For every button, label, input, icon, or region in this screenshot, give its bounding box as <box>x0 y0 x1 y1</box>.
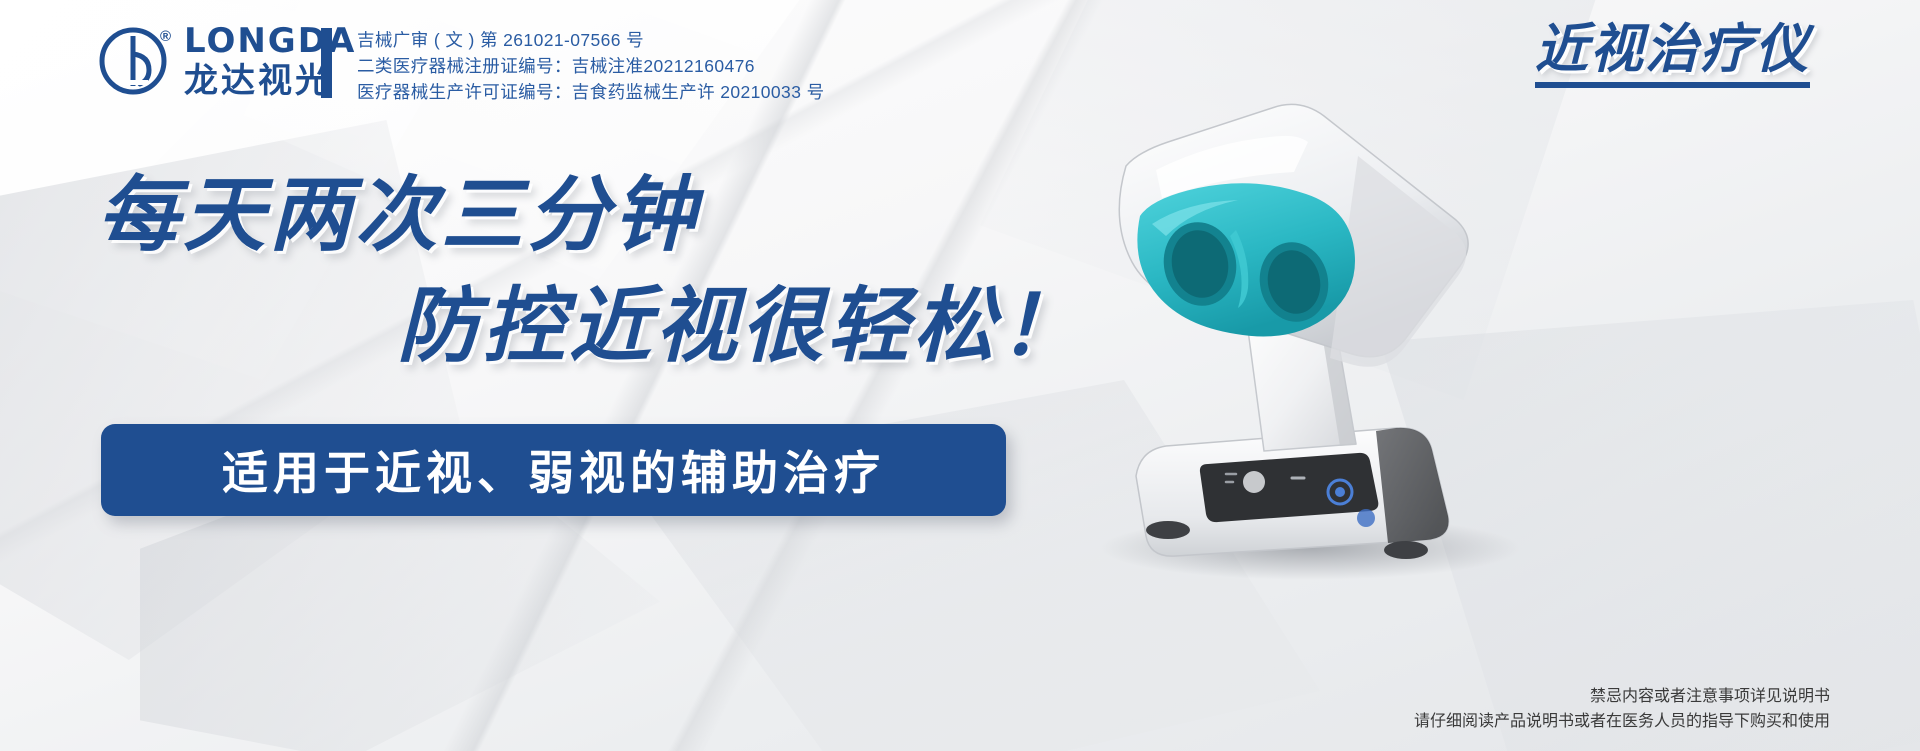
headline-block: 每天两次三分钟 防控近视很轻松！ <box>97 168 1085 376</box>
registered-trademark-symbol: ® <box>160 28 171 45</box>
product-title-text: 近视治疗仪 <box>1535 22 1810 78</box>
regulatory-line-device-registration: 二类医疗器械注册证编号：吉械注准20212160476 <box>357 54 824 80</box>
circle-monogram-icon: ® <box>96 24 170 98</box>
disclaimer-line-1: 禁忌内容或者注意事项详见说明书 <box>1414 685 1830 710</box>
disclaimer-block: 禁忌内容或者注意事项详见说明书 请仔细阅读产品说明书或者在医务人员的指导下购买和… <box>1414 685 1830 735</box>
regulatory-line-production-license: 医疗器械生产许可证编号：吉食药监械生产许 20210033 号 <box>357 80 824 106</box>
advertisement-banner: ® LONGDA 龙达视光 吉械广审 ( 文 ) 第 261021-07566 … <box>0 0 1920 751</box>
indication-banner-text: 适用于近视、弱视的辅助治疗 <box>222 437 885 503</box>
disclaimer-line-2: 请仔细阅读产品说明书或者在医务人员的指导下购买和使用 <box>1414 710 1830 735</box>
regulatory-info: 吉械广审 ( 文 ) 第 261021-07566 号 二类医疗器械注册证编号：… <box>357 28 824 106</box>
regulatory-line-ad-approval: 吉械广审 ( 文 ) 第 261021-07566 号 <box>357 28 824 54</box>
indication-banner: 适用于近视、弱视的辅助治疗 <box>101 424 1006 516</box>
headline-line-2: 防控近视很轻松！ <box>397 279 1085 376</box>
header-divider <box>321 28 332 98</box>
headline-line-1: 每天两次三分钟 <box>97 168 1085 265</box>
product-image <box>1040 78 1600 598</box>
brand-logo: ® LONGDA 龙达视光 <box>96 24 356 98</box>
